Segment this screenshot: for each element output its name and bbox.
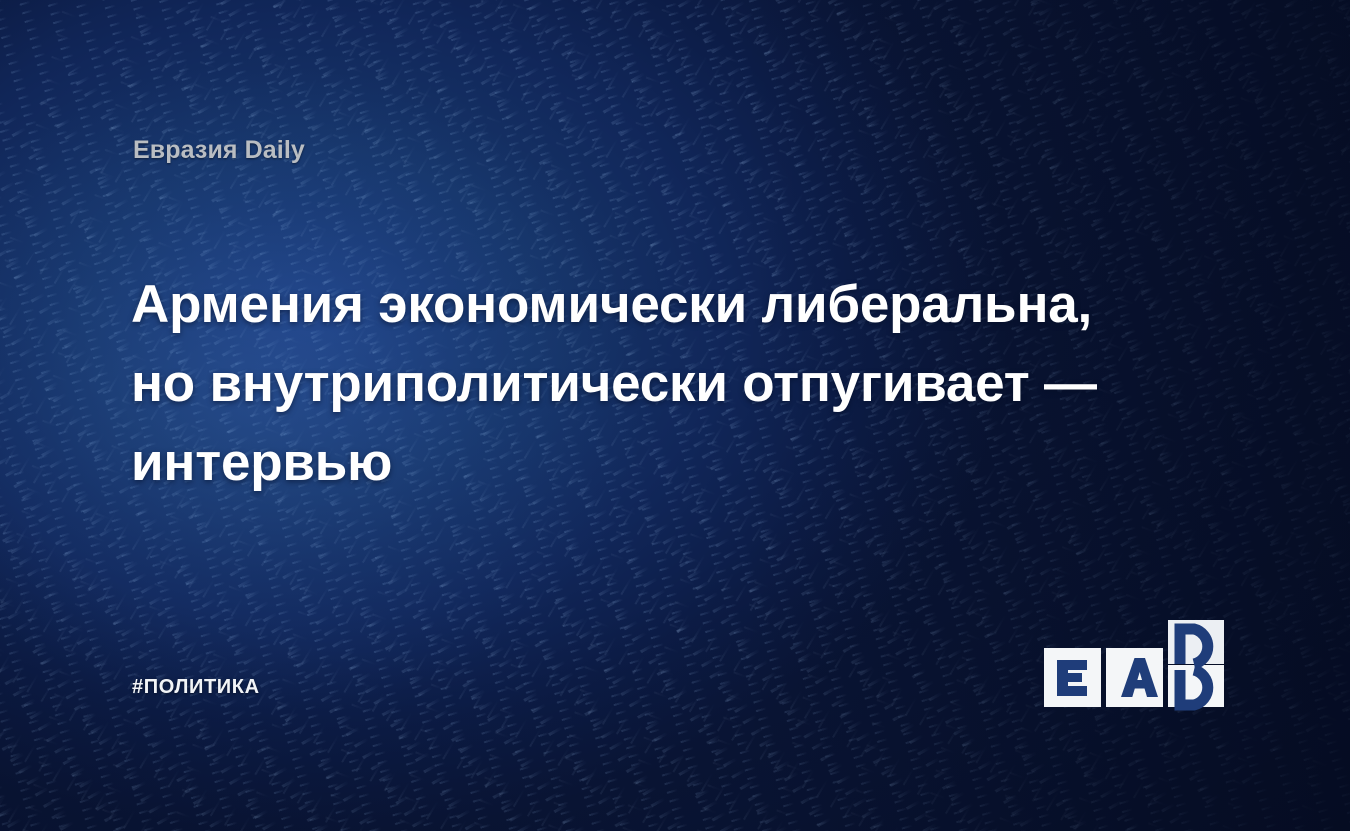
article-headline: Армения экономически либеральна, но внут… (131, 265, 1161, 502)
site-name: Евразия Daily (133, 136, 305, 165)
eadaily-logo[interactable] (1044, 620, 1224, 712)
card-content: Евразия Daily Армения экономически либер… (0, 0, 1350, 831)
category-tag[interactable]: #ПОЛИТИКА (132, 676, 260, 699)
article-share-card: Евразия Daily Армения экономически либер… (0, 0, 1350, 831)
eadaily-logo-icon (1044, 620, 1224, 712)
